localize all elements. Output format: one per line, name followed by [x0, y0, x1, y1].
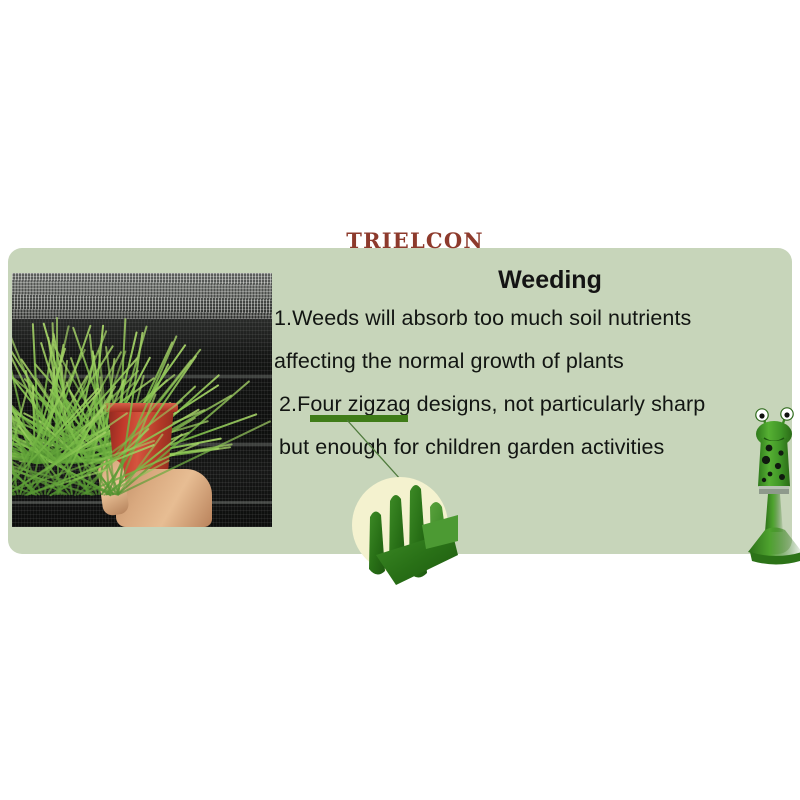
body-line-2: affecting the normal growth of plants	[274, 349, 794, 374]
brand-wordmark: TRIELCON	[340, 228, 490, 254]
poster-canvas: TRIELCON Weeding 1.Weeds will absorb too…	[0, 0, 800, 800]
body-line-3: 2.Four zigzag designs, not particularly …	[279, 392, 799, 417]
body-line-1: 1.Weeds will absorb too much soil nutrie…	[274, 306, 794, 331]
photo-drooping-blades	[18, 333, 266, 523]
product-photo	[12, 273, 272, 527]
frog-garden-tool	[742, 404, 800, 576]
page-title: Weeding	[400, 264, 700, 296]
rake-icon	[348, 471, 458, 589]
rake-head-callout	[352, 477, 448, 573]
